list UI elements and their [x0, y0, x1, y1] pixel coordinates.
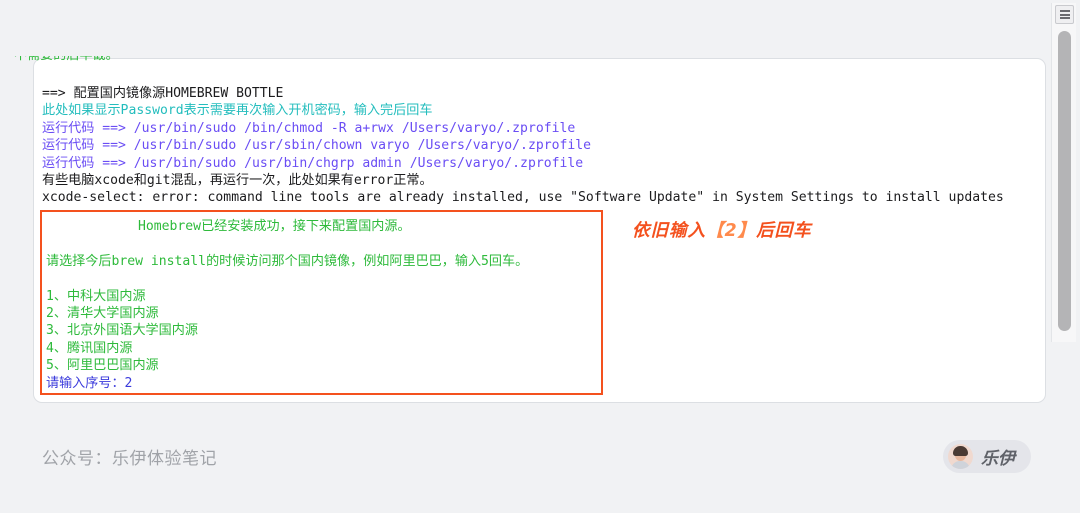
terminal-line-clipped: 不需要的后半截。 [14, 56, 314, 64]
avatar [948, 444, 973, 469]
avatar-hair [953, 446, 968, 456]
terminal-line: 运行代码 ==> /usr/bin/sudo /usr/bin/chgrp ad… [42, 155, 1022, 172]
menu-line [1060, 14, 1070, 16]
highlight-spacer-2 [46, 270, 606, 287]
vertical-scrollbar[interactable] [1051, 3, 1076, 342]
annotation-text: 依旧输入【2】后回车 [632, 217, 812, 242]
terminal-line: xcode-select: error: command line tools … [42, 189, 1022, 206]
mirror-option: 4、腾讯国内源 [46, 340, 606, 357]
highlight-content: Homebrew已经安装成功，接下来配置国内源。 请选择今后brew insta… [46, 218, 606, 392]
terminal-line: 此处如果显示Password表示需要再次输入开机密码，输入完后回车 [42, 102, 1022, 119]
author-name: 乐伊 [981, 444, 1015, 469]
mirror-option: 2、清华大学国内源 [46, 305, 606, 322]
annotation-suffix: 后回车 [756, 221, 812, 241]
scrollbar-thumb[interactable] [1058, 31, 1071, 331]
list-menu-icon[interactable] [1055, 5, 1074, 24]
menu-line [1060, 17, 1070, 19]
wechat-account-label: 公众号：乐伊体验笔记 [42, 444, 217, 469]
terminal-line: 有些电脑xcode和git混乱，再运行一次，此处如果有error正常。 [42, 172, 1022, 189]
highlight-prompt: 请选择今后brew install的时候访问那个国内镜像，例如阿里巴巴，输入5回… [46, 253, 606, 270]
terminal-line: ==> 配置国内镜像源HOMEBREW BOTTLE [42, 85, 1022, 102]
annotation-number: 【2】 [706, 221, 756, 241]
highlight-title: Homebrew已经安装成功，接下来配置国内源。 [46, 218, 606, 235]
screenshot-root: 不需要的后半截。 ==> 配置国内镜像源HOMEBREW BOTTLE 此处如果… [0, 0, 1080, 513]
sequence-input-line[interactable]: 请输入序号：2 [46, 375, 606, 392]
mirror-option: 5、阿里巴巴国内源 [46, 357, 606, 374]
author-badge: 乐伊 [943, 440, 1031, 473]
terminal-line: 运行代码 ==> /usr/bin/sudo /usr/sbin/chown v… [42, 137, 1022, 154]
avatar-body [951, 461, 970, 469]
annotation-prefix: 依旧输入 [632, 221, 706, 241]
terminal-output: ==> 配置国内镜像源HOMEBREW BOTTLE 此处如果显示Passwor… [42, 85, 1022, 207]
highlight-spacer-1 [46, 235, 606, 252]
mirror-option: 3、北京外国语大学国内源 [46, 322, 606, 339]
mirror-option: 1、中科大国内源 [46, 288, 606, 305]
menu-line [1060, 10, 1070, 12]
terminal-line: 运行代码 ==> /usr/bin/sudo /bin/chmod -R a+r… [42, 120, 1022, 137]
clipped-scroll-line: 不需要的后半截。 [14, 56, 314, 65]
